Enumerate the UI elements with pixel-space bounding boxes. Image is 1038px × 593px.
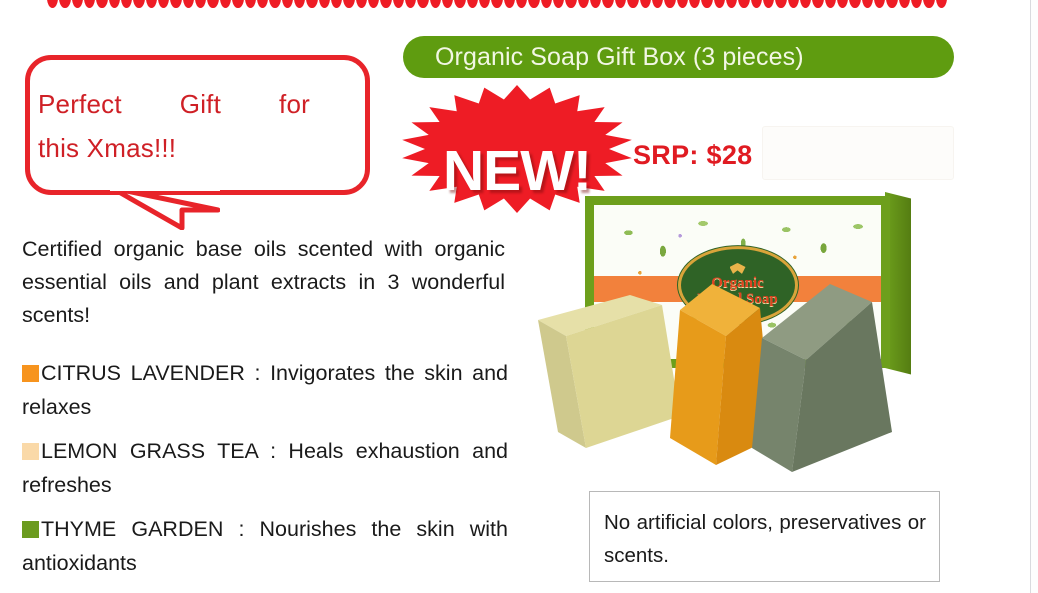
- scallop-dot: [170, 0, 181, 8]
- scent-item-thyme-garden: THYME GARDEN : Nourishes the skin with a…: [22, 513, 508, 580]
- scallop-dot: [109, 0, 120, 8]
- scallop-dot: [812, 0, 823, 8]
- scallop-dot: [417, 0, 428, 8]
- scallop-dot: [59, 0, 70, 8]
- scallop-dot: [800, 0, 811, 8]
- scallop-dot: [232, 0, 243, 8]
- scallop-dot: [491, 0, 502, 8]
- scallop-dot: [380, 0, 391, 8]
- product-photo: Organic Herbal Soap: [520, 180, 960, 480]
- scallop-dot: [923, 0, 934, 8]
- scallop-dot: [640, 0, 651, 8]
- scallop-dot: [195, 0, 206, 8]
- scallop-dot: [590, 0, 601, 8]
- scallop-dot: [689, 0, 700, 8]
- scallop-dot: [602, 0, 613, 8]
- scallop-dot: [664, 0, 675, 8]
- scallop-dot-border: [47, 0, 947, 9]
- scallop-dot: [331, 0, 342, 8]
- scallop-dot: [479, 0, 490, 8]
- scallop-dot: [257, 0, 268, 8]
- scallop-dot: [825, 0, 836, 8]
- scallop-dot: [528, 0, 539, 8]
- scallop-dot: [269, 0, 280, 8]
- scallop-dot: [393, 0, 404, 8]
- claim-text: No artificial colors, preservatives or s…: [604, 506, 926, 572]
- scallop-dot: [936, 0, 947, 8]
- scallop-dot: [553, 0, 564, 8]
- thyme-garden-bar: [752, 284, 892, 472]
- scallop-dot: [578, 0, 589, 8]
- scent-item-lemon-grass-tea: LEMON GRASS TEA : Heals exhaustion and r…: [22, 435, 508, 502]
- scallop-dot: [504, 0, 515, 8]
- scallop-dot: [207, 0, 218, 8]
- scallop-dot: [282, 0, 293, 8]
- scallop-dot: [615, 0, 626, 8]
- claim-box: No artificial colors, preservatives or s…: [589, 491, 940, 582]
- scallop-dot: [146, 0, 157, 8]
- scallop-dot: [627, 0, 638, 8]
- scent-label-lemon-grass-tea: LEMON GRASS TEA : Heals exhaustion and r…: [22, 439, 508, 497]
- product-description: Certified organic base oils scented with…: [22, 233, 505, 332]
- scent-list: CITRUS LAVENDER : Invigorates the skin a…: [22, 357, 508, 591]
- scallop-dot: [121, 0, 132, 8]
- scallop-dot: [886, 0, 897, 8]
- scallop-dot: [516, 0, 527, 8]
- callout-tail: [110, 186, 220, 230]
- scallop-dot: [96, 0, 107, 8]
- scallop-dot: [899, 0, 910, 8]
- scallop-dot: [677, 0, 688, 8]
- scallop-dot: [726, 0, 737, 8]
- scallop-dot: [133, 0, 144, 8]
- citrus-lavender-bar: [538, 295, 680, 448]
- scent-item-citrus-lavender: CITRUS LAVENDER : Invigorates the skin a…: [22, 357, 508, 424]
- scallop-dot: [874, 0, 885, 8]
- citrus-lavender-swatch: [22, 365, 39, 382]
- scallop-dot: [306, 0, 317, 8]
- scallop-dot: [701, 0, 712, 8]
- image-artifact: [762, 126, 954, 180]
- scallop-dot: [72, 0, 83, 8]
- scallop-dot: [356, 0, 367, 8]
- scallop-dot: [714, 0, 725, 8]
- soap-bars: [520, 180, 960, 480]
- page-edge-rule: [1030, 0, 1031, 593]
- scent-label-citrus-lavender: CITRUS LAVENDER : Invigorates the skin a…: [22, 361, 508, 419]
- scallop-dot: [405, 0, 416, 8]
- slide-canvas: Perfect Gift for this Xmas!!! Certified …: [0, 0, 1038, 593]
- scallop-dot: [565, 0, 576, 8]
- scallop-dot: [738, 0, 749, 8]
- callout-text: Perfect Gift for this Xmas!!!: [38, 82, 310, 170]
- scallop-dot: [467, 0, 478, 8]
- scallop-dot: [343, 0, 354, 8]
- scallop-dot: [430, 0, 441, 8]
- scallop-dot: [183, 0, 194, 8]
- callout-line-1: Perfect Gift for: [38, 82, 310, 126]
- scallop-dot: [911, 0, 922, 8]
- scallop-dot: [788, 0, 799, 8]
- scallop-dot: [158, 0, 169, 8]
- lemon-grass-tea-swatch: [22, 443, 39, 460]
- scallop-dot: [775, 0, 786, 8]
- scallop-dot: [751, 0, 762, 8]
- scallop-dot: [294, 0, 305, 8]
- page-margin: [1031, 0, 1038, 593]
- scallop-dot: [652, 0, 663, 8]
- scallop-dot: [541, 0, 552, 8]
- callout-line-2: this Xmas!!!: [38, 126, 310, 170]
- scallop-dot: [442, 0, 453, 8]
- thyme-garden-swatch: [22, 521, 39, 538]
- scallop-dot: [368, 0, 379, 8]
- scallop-dot: [47, 0, 58, 8]
- scallop-dot: [849, 0, 860, 8]
- scallop-dot: [319, 0, 330, 8]
- scallop-dot: [862, 0, 873, 8]
- scallop-dot: [84, 0, 95, 8]
- scallop-dot: [220, 0, 231, 8]
- scallop-dot: [837, 0, 848, 8]
- product-title: Organic Soap Gift Box (3 pieces): [435, 42, 804, 72]
- srp-price: SRP: $28: [633, 140, 752, 171]
- scallop-dot: [763, 0, 774, 8]
- scallop-dot: [245, 0, 256, 8]
- scallop-dot: [454, 0, 465, 8]
- scent-label-thyme-garden: THYME GARDEN : Nourishes the skin with a…: [22, 517, 508, 575]
- product-title-banner: Organic Soap Gift Box (3 pieces): [403, 36, 954, 78]
